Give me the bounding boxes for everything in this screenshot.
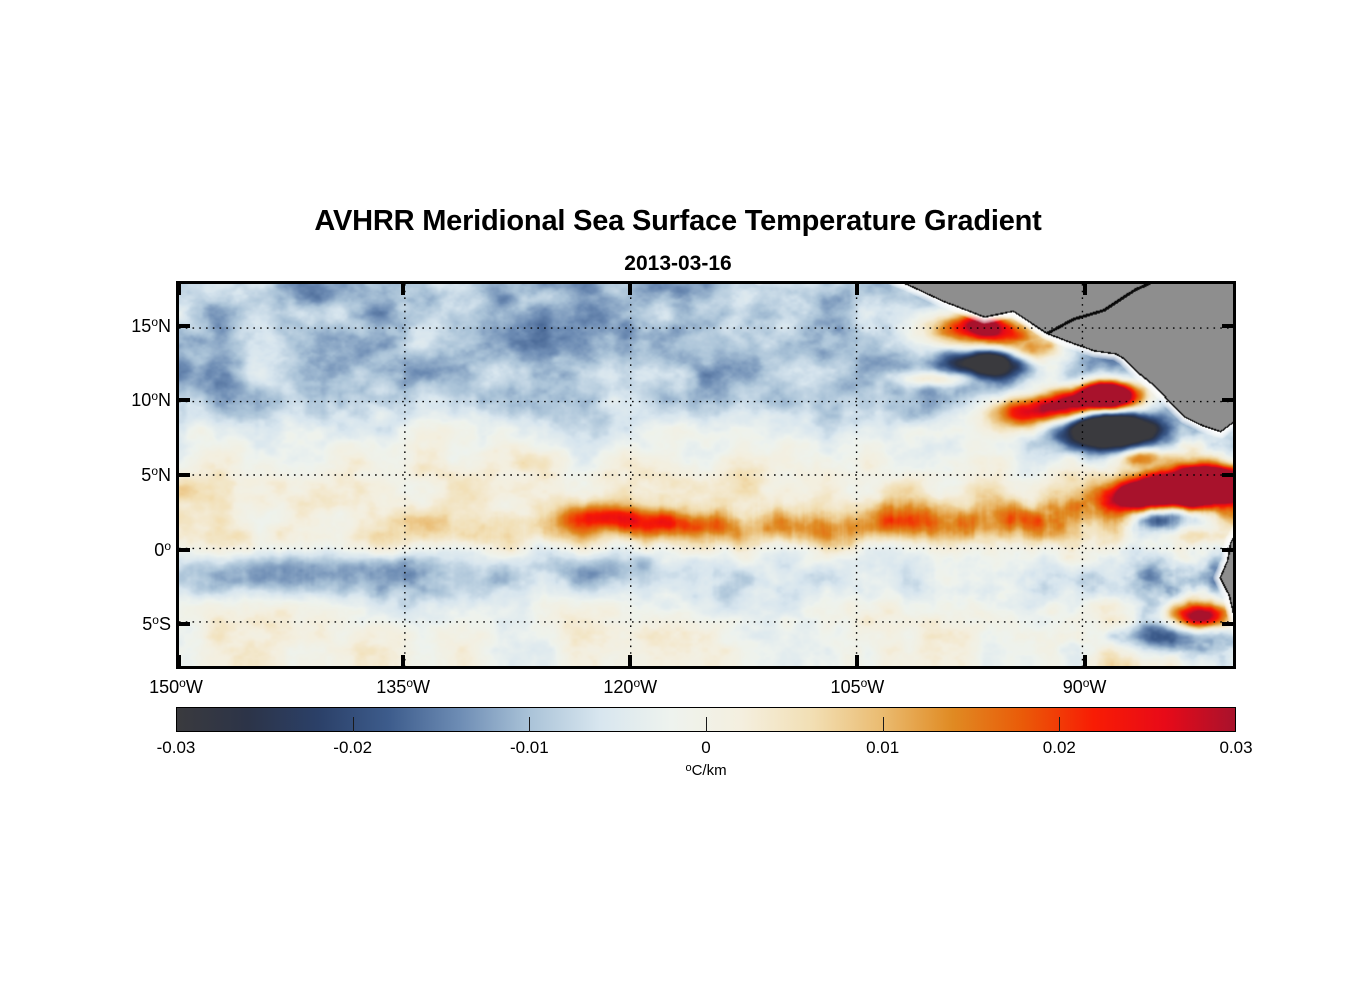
x-tick-mark <box>628 655 632 666</box>
x-tick-mark <box>628 284 632 295</box>
y-tick-mark <box>1222 324 1233 328</box>
y-tick-mark <box>1222 398 1233 402</box>
x-tick-mark <box>1083 655 1087 666</box>
y-axis-tick-label: 5oS <box>142 613 171 635</box>
figure-canvas: AVHRR Meridional Sea Surface Temperature… <box>0 0 1356 1000</box>
x-axis-tick-label: 150oW <box>149 676 203 698</box>
colorbar-tick-label: 0 <box>701 738 710 758</box>
colorbar-tick-label: 0.02 <box>1043 738 1076 758</box>
colorbar-tick-label: -0.02 <box>333 738 372 758</box>
y-tick-mark <box>179 324 190 328</box>
page-title: AVHRR Meridional Sea Surface Temperature… <box>0 205 1356 238</box>
y-tick-mark <box>179 473 190 477</box>
y-tick-mark <box>179 398 190 402</box>
y-axis-tick-label: 15oN <box>131 315 171 337</box>
x-axis-tick-label: 120oW <box>603 676 657 698</box>
map-plot-area[interactable] <box>176 281 1236 669</box>
colorbar-tick-label: 0.01 <box>866 738 899 758</box>
sst-gradient-heatmap <box>179 284 1233 666</box>
y-tick-mark <box>1222 622 1233 626</box>
x-tick-mark <box>177 655 181 666</box>
y-axis-tick-label: 5oN <box>141 464 171 486</box>
x-tick-mark <box>855 284 859 295</box>
x-tick-mark <box>177 284 181 295</box>
y-axis-tick-label: 10oN <box>131 389 171 411</box>
x-tick-mark <box>401 284 405 295</box>
x-axis-tick-label: 90oW <box>1063 676 1107 698</box>
y-tick-mark <box>179 548 190 552</box>
colorbar-tick-label: 0.03 <box>1219 738 1252 758</box>
colorbar <box>176 707 1236 732</box>
x-axis-tick-label: 105oW <box>831 676 885 698</box>
colorbar-tick-label: -0.03 <box>157 738 196 758</box>
x-tick-mark <box>401 655 405 666</box>
figure-subtitle: 2013-03-16 <box>0 252 1356 276</box>
y-axis-tick-label: 0o <box>154 539 171 561</box>
colorbar-units-label: oC/km <box>685 762 726 779</box>
x-tick-mark <box>1083 284 1087 295</box>
y-tick-mark <box>1222 548 1233 552</box>
y-tick-mark <box>1222 473 1233 477</box>
y-tick-mark <box>179 622 190 626</box>
x-axis-tick-label: 135oW <box>376 676 430 698</box>
x-tick-mark <box>855 655 859 666</box>
colorbar-tick-label: -0.01 <box>510 738 549 758</box>
